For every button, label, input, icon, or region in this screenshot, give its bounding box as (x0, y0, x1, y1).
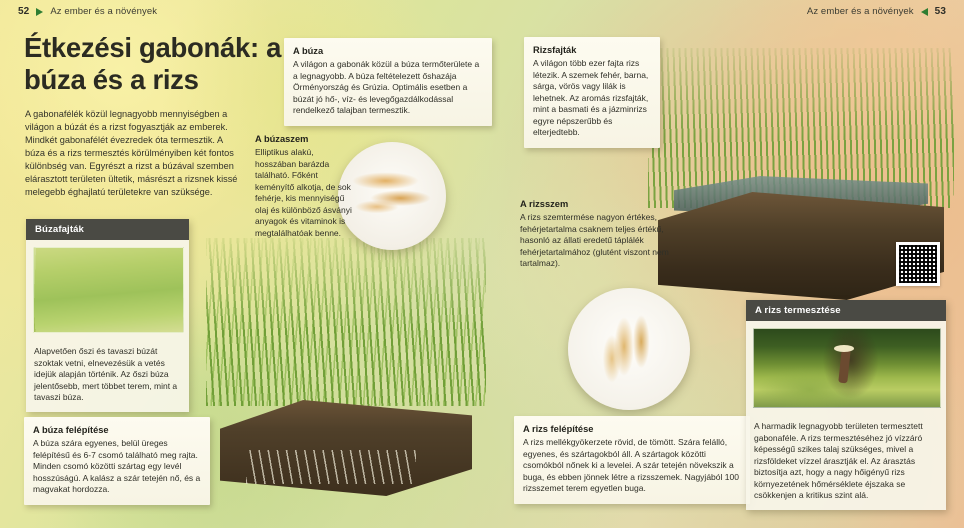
running-head-left: 52 Az ember és a növények (18, 6, 157, 17)
callout-a-rizsszem: A rizsszem A rizs szemtermése nagyon ért… (520, 199, 680, 270)
triangle-right-icon (36, 8, 43, 16)
callout-a-buza-felepitese: A búza felépítése A búza szára egyenes, … (24, 417, 210, 505)
callout-body: A rizs mellékgyökerzete rövid, de tömött… (523, 437, 741, 495)
rice-panicle-photo (568, 288, 690, 410)
callout-a-buza: A búza A világon a gabonák közül a búza … (284, 38, 492, 126)
callout-body: A búza szára egyenes, belül üreges felép… (33, 438, 201, 496)
card-image-wrap (26, 240, 189, 340)
page-title: Étkezési gabonák: a búza és a rizs (24, 32, 294, 96)
callout-rizsfajtak: Rizsfajták A világon több ezer fajta riz… (524, 37, 660, 148)
page-number-left: 52 (18, 6, 29, 17)
callout-body: A világon a gabonák közül a búza termőte… (293, 59, 483, 117)
callout-title: A búza (293, 46, 483, 56)
card-a-rizs-termesztese: A rizs termesztése A harmadik legnagyobb… (746, 300, 946, 510)
card-title: A rizs termesztése (746, 300, 946, 321)
wheat-soil-cross-section-illustration (206, 250, 486, 502)
callout-title: A búza felépítése (33, 425, 201, 435)
callout-body: A rizs szemtermése nagyon értékes, fehér… (520, 212, 680, 270)
callout-body: Elliptikus alakú, hosszában barázda talá… (255, 147, 355, 239)
callout-body: A világon több ezer fajta rizs létezik. … (533, 58, 651, 139)
running-head-right: Az ember és a növények 53 (807, 6, 946, 17)
callout-a-buzaszem: A búzaszem Elliptikus alakú, hosszában b… (255, 134, 355, 239)
triangle-left-icon (921, 8, 928, 16)
lead-paragraph: A gabonafélék közül legnagyobb mennyiség… (25, 108, 240, 199)
running-head-label-right: Az ember és a növények (807, 6, 914, 17)
textbook-spread: 52 Az ember és a növények Az ember és a … (0, 0, 964, 528)
wheat-plants (206, 238, 486, 406)
wheat-roots (246, 450, 416, 484)
qr-code[interactable] (896, 242, 940, 286)
running-head-label-left: Az ember és a növények (50, 6, 157, 17)
card-title: Búzafajták (26, 219, 189, 240)
callout-title: A rizsszem (520, 199, 680, 209)
rice-farmer-photo (753, 328, 941, 408)
card-buzafajtak: Búzafajták Alapvetően őszi és tavaszi bú… (26, 219, 189, 412)
page-number-right: 53 (935, 6, 946, 17)
callout-title: Rizsfajták (533, 45, 651, 55)
card-caption: A harmadik legnagyobb területen termeszt… (746, 415, 946, 510)
callout-a-rizs-felepitese: A rizs felépítése A rizs mellékgyökerzet… (514, 416, 750, 504)
callout-title: A rizs felépítése (523, 424, 741, 434)
card-caption: Alapvetően őszi és tavaszi búzát szoktak… (26, 340, 189, 412)
rice-paddy-cross-section-illustration (648, 58, 954, 308)
wheat-field-photo (33, 247, 184, 333)
callout-title: A búzaszem (255, 134, 355, 144)
card-image-wrap (746, 321, 946, 415)
